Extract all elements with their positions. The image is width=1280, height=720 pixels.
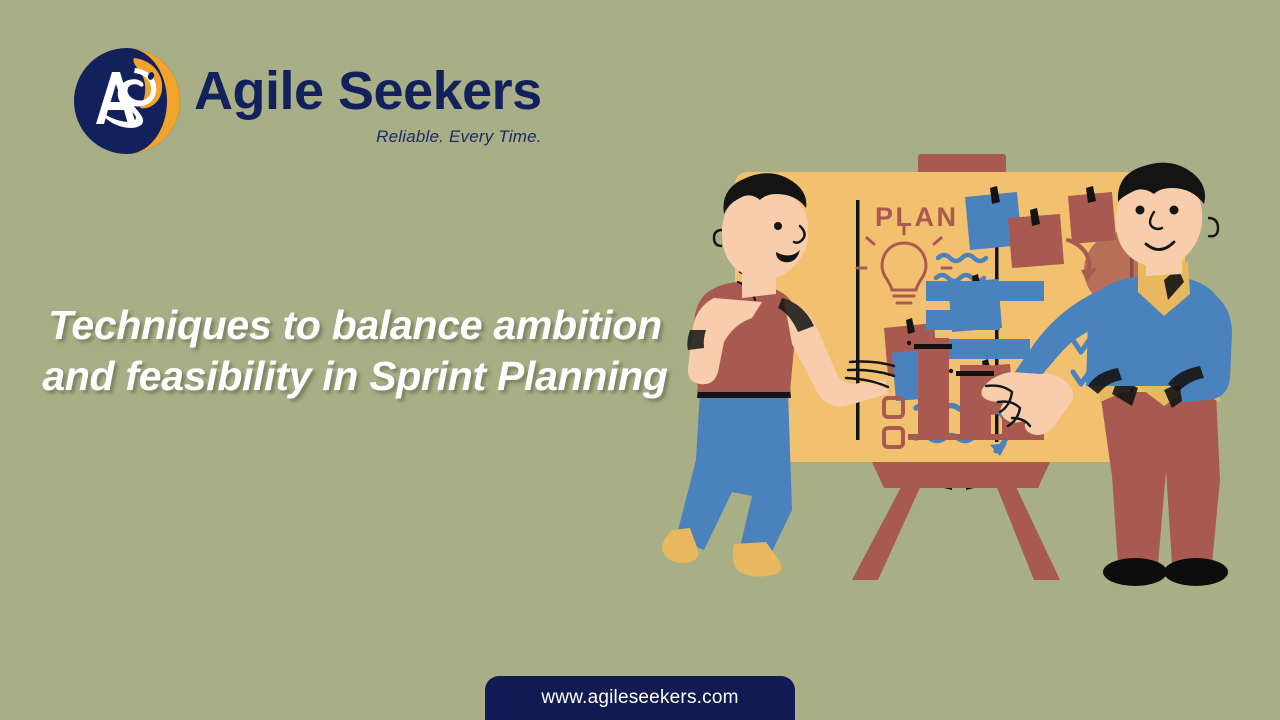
left-person-pants [676,390,792,560]
right-person-shoe [1164,558,1228,586]
page-title: Techniques to balance ambition and feasi… [40,300,670,403]
board-plan-label: PLAN [875,202,959,232]
board-tray [872,462,1050,488]
right-person-eye [1170,206,1179,215]
column-divider-1 [856,200,860,440]
poster-canvas: Agile Seekers Reliable. Every Time. Tech… [0,0,1280,720]
chart-bar [918,338,949,436]
brand-logo[interactable]: Agile Seekers Reliable. Every Time. [72,46,542,156]
chart-baseline [908,434,1044,440]
logo-text: Agile Seekers Reliable. Every Time. [194,46,542,147]
logo-mark-icon [72,46,182,156]
right-person-eye [1136,206,1145,215]
brand-name: Agile Seekers [194,64,542,118]
right-person-shoe [1103,558,1167,586]
website-url-banner[interactable]: www.agileseekers.com [485,676,795,720]
brand-tagline: Reliable. Every Time. [194,127,542,147]
board-top-clip [918,154,1006,174]
website-url-text: www.agileseekers.com [541,687,738,709]
chart-marker [956,371,994,376]
right-person-pants [1100,392,1220,564]
left-person-eye [774,222,782,230]
progress-bar [926,310,1000,330]
chart-marker [914,344,952,349]
illustration-whiteboard-scene: PLAN [660,140,1260,600]
progress-bar [926,281,1044,301]
